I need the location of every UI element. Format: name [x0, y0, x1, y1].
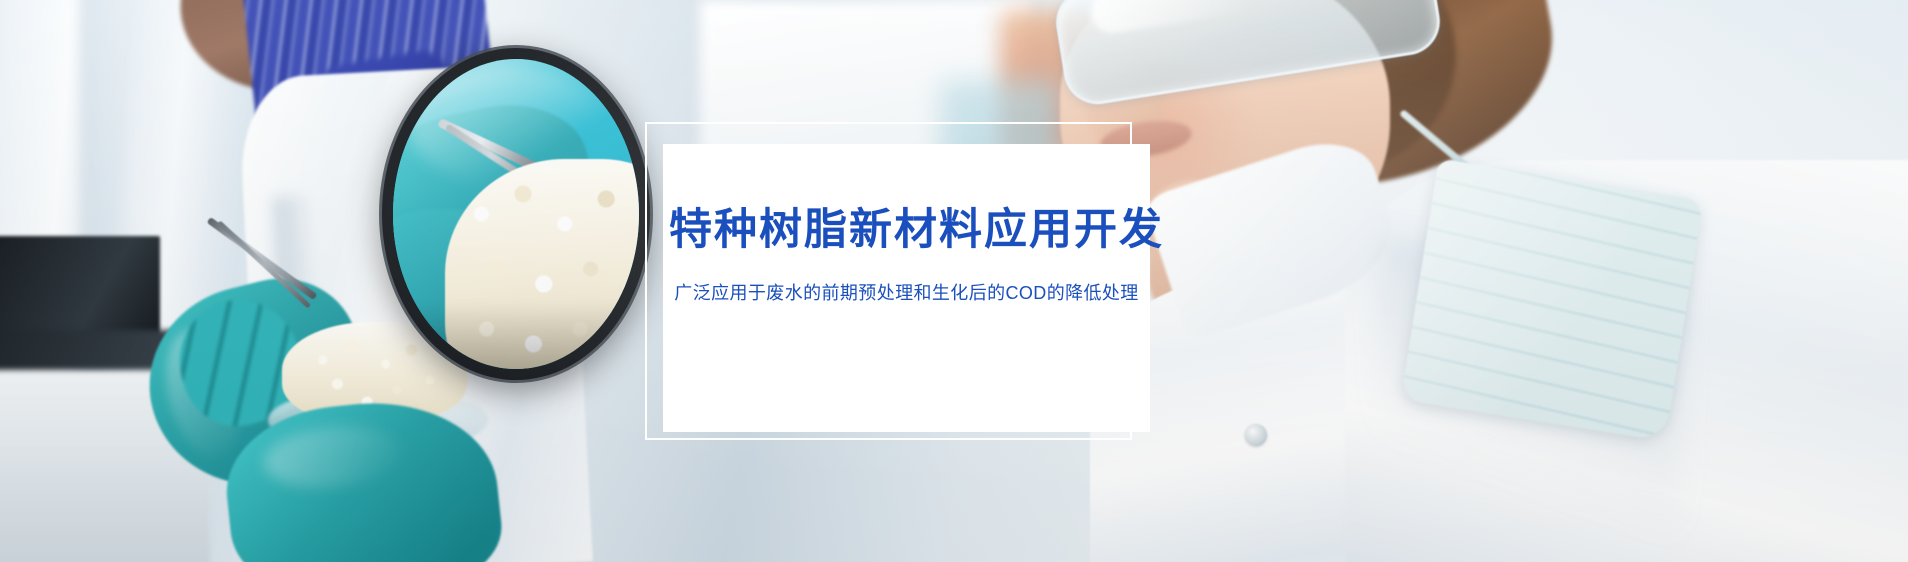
- magnifying-glass-lens: [382, 48, 650, 380]
- lens-glare-highlight: [407, 65, 607, 185]
- banner-subtitle: 广泛应用于废水的前期预处理和生化后的COD的降低处理: [663, 281, 1150, 306]
- lens-bottom-shadow: [393, 303, 639, 380]
- banner-text-panel: 特种树脂新材料应用开发 广泛应用于废水的前期预处理和生化后的COD的降低处理: [663, 144, 1150, 432]
- banner-title: 特种树脂新材料应用开发: [663, 206, 1150, 255]
- hero-banner: 特种树脂新材料应用开发 广泛应用于废水的前期预处理和生化后的COD的降低处理: [0, 0, 1908, 562]
- lab-coat-button: [1245, 424, 1267, 446]
- face-mask: [1401, 159, 1704, 442]
